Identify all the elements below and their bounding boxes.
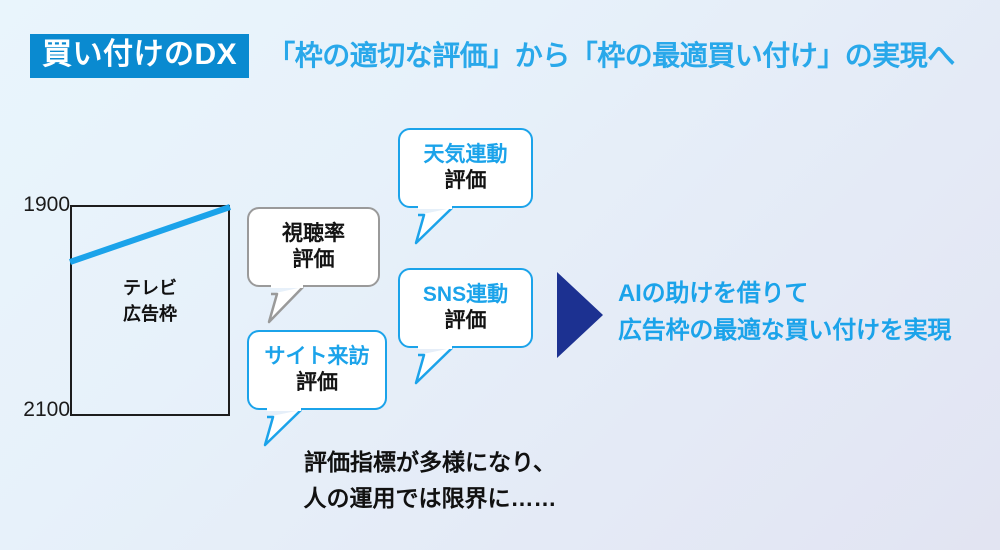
bubble-rating-line2: 評価 <box>293 247 335 273</box>
bubble-rating[interactable]: 視聴率 評価 <box>247 207 380 287</box>
bubble-weather-line2: 評価 <box>445 168 487 194</box>
axis-tick-bottom: 2100 <box>23 398 70 422</box>
slide-canvas: 買い付けのDX 「枠の適切な評価」から「枠の最適買い付け」の実現へ 1900 2… <box>0 0 1000 550</box>
right-arrow-icon <box>557 272 603 358</box>
bubble-rating-tail <box>267 286 315 326</box>
bubble-sns[interactable]: SNS連動 評価 <box>398 268 533 348</box>
chart-series-label: テレビ 広告枠 <box>70 275 230 327</box>
title-badge: 買い付けのDX <box>30 34 249 78</box>
bubble-weather[interactable]: 天気連動 評価 <box>398 128 533 208</box>
bubble-site-tail <box>263 409 311 449</box>
bubble-rating-line1: 視聴率 <box>282 221 345 247</box>
bubble-weather-tail <box>414 207 462 247</box>
bubble-sns-tail <box>414 347 462 387</box>
page-title: 「枠の適切な評価」から「枠の最適買い付け」の実現へ <box>267 42 955 70</box>
bubble-site-line2: 評価 <box>296 370 338 396</box>
bubble-site[interactable]: サイト来訪 評価 <box>247 330 387 410</box>
caption-text: 評価指標が多様になり、 人の運用では限界に…… <box>250 445 610 516</box>
bubble-sns-line2: 評価 <box>445 308 487 334</box>
bubble-weather-line1: 天気連動 <box>424 142 508 168</box>
bubble-site-line1: サイト来訪 <box>265 344 370 370</box>
bubble-sns-line1: SNS連動 <box>423 282 508 308</box>
axis-tick-top: 1900 <box>23 193 70 217</box>
tv-ad-slot-chart: 1900 2100 テレビ 広告枠 <box>0 180 250 440</box>
header: 買い付けのDX 「枠の適切な評価」から「枠の最適買い付け」の実現へ <box>30 34 955 78</box>
conclusion-text: AIの助けを借りて 広告枠の最適な買い付けを実現 <box>618 275 951 349</box>
